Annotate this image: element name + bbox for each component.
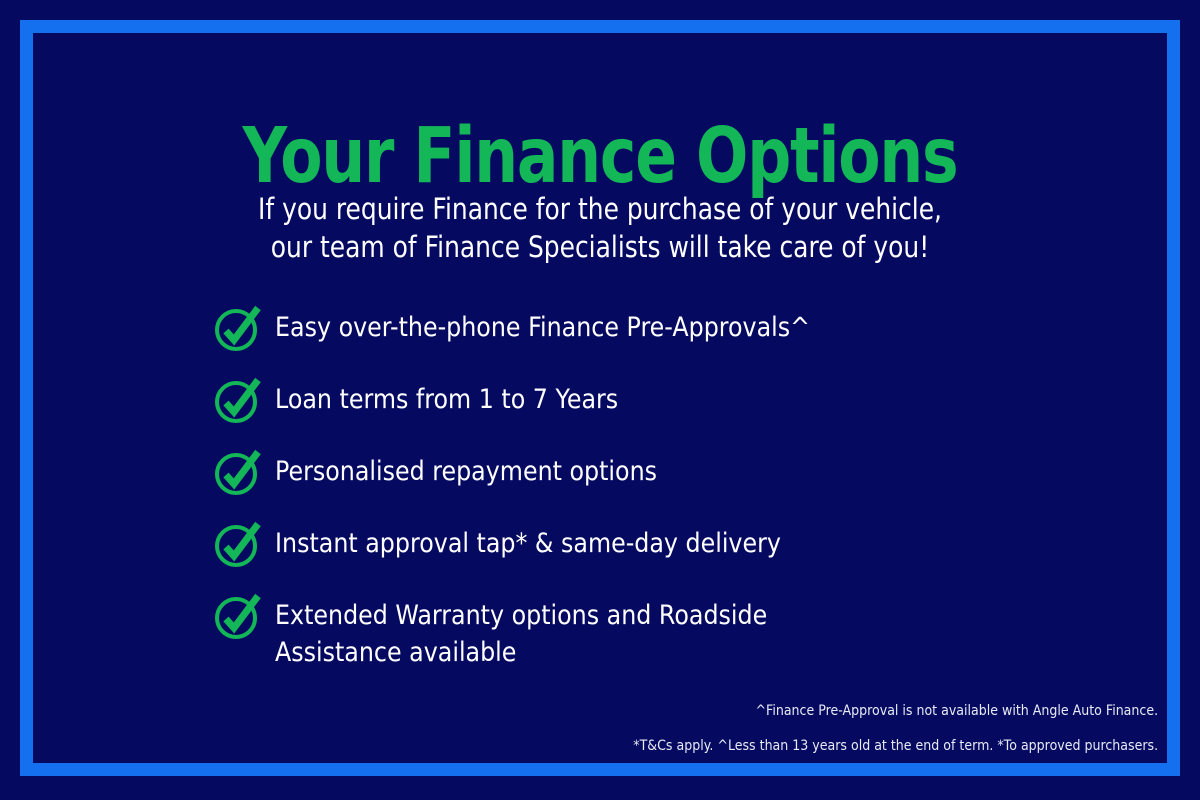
poster-content: Your Finance Options If you require Fina…	[0, 0, 1200, 800]
check-circle-icon	[213, 517, 265, 569]
finance-options-poster: Your Finance Options If you require Fina…	[0, 0, 1200, 800]
list-item-label: Easy over-the-phone Finance Pre-Approval…	[275, 305, 810, 346]
list-item: Personalised repayment options	[213, 449, 1113, 497]
subtitle: If you require Finance for the purchase …	[84, 190, 1116, 266]
check-circle-icon	[213, 373, 265, 425]
list-item: Instant approval tap* & same-day deliver…	[213, 521, 1113, 569]
check-circle-icon	[213, 301, 265, 353]
list-item-label: Instant approval tap* & same-day deliver…	[275, 521, 781, 562]
list-item-label: Personalised repayment options	[275, 449, 657, 490]
benefits-list: Easy over-the-phone Finance Pre-Approval…	[213, 305, 1113, 671]
list-item: Extended Warranty options and Roadside A…	[213, 593, 1113, 671]
disclaimer: ^Finance Pre-Approval is not available w…	[633, 694, 1158, 764]
disclaimer-line-2: *T&Cs apply. ^Less than 13 years old at …	[633, 729, 1158, 764]
list-item-label: Loan terms from 1 to 7 Years	[275, 377, 618, 418]
subtitle-line-1: If you require Finance for the purchase …	[84, 190, 1116, 228]
list-item-label: Extended Warranty options and Roadside A…	[275, 593, 767, 671]
list-item: Loan terms from 1 to 7 Years	[213, 377, 1113, 425]
subtitle-line-2: our team of Finance Specialists will tak…	[84, 228, 1116, 266]
page-title: Your Finance Options	[120, 118, 1080, 195]
check-circle-icon	[213, 445, 265, 497]
list-item: Easy over-the-phone Finance Pre-Approval…	[213, 305, 1113, 353]
check-circle-icon	[213, 589, 265, 641]
disclaimer-line-1: ^Finance Pre-Approval is not available w…	[633, 694, 1158, 729]
